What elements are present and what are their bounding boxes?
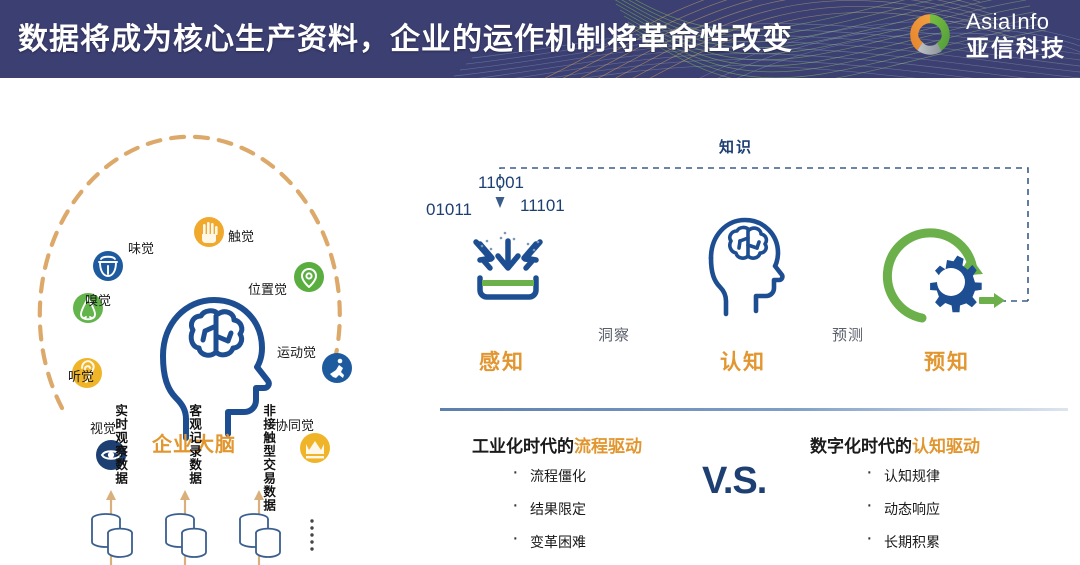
stage-label-foresight: 预知 (924, 346, 970, 376)
sense-label-smell: 嗅觉 (85, 290, 111, 309)
comparison-right-heading-highlight: 认知驱动 (912, 437, 980, 456)
ellipsis-dots (310, 519, 313, 550)
comparison-left-list: 流程僵化 结果限定 变革困难 (508, 466, 586, 565)
knowledge-label: 知识 (719, 136, 753, 157)
gear-out-arrow (979, 293, 1005, 308)
cognition-flow-diagram: 知识 11001 01011 11101 感知 认知 预知 洞察 预测 工业化时… (430, 78, 1080, 565)
stage-label-cognition: 认知 (720, 346, 766, 376)
left-panel-graphics (0, 78, 430, 565)
source-arrowheads (106, 490, 264, 500)
comparison-block: 工业化时代的流程驱动 流程僵化 结果限定 变革困难 V.S. 数字化时代的认知驱… (430, 408, 1080, 565)
gear-cycle-icon (887, 233, 1005, 318)
transition-label-insight: 洞察 (598, 324, 630, 345)
slide-root: 数据将成为核心生产资料，企业的运作机制将革命性改变 (0, 0, 1080, 565)
versus-label: V.S. (702, 460, 766, 503)
slide-header: 数据将成为核心生产资料，企业的运作机制将革命性改变 (0, 0, 1080, 78)
slide-body: 触觉 味觉 嗅觉 听觉 视觉 位置觉 运动觉 协同觉 企业大脑 实时观察数据 客… (0, 78, 1080, 565)
cognition-brain-squiggle-icon (730, 227, 767, 258)
sense-label-touch: 触觉 (228, 226, 254, 245)
data-funnel-icon (476, 232, 540, 297)
database-icon-group (92, 514, 280, 557)
sense-label-location: 位置觉 (248, 279, 287, 298)
sense-label-taste: 味觉 (128, 238, 154, 257)
sense-label-collaboration: 协同觉 (275, 415, 314, 434)
comparison-right-heading-prefix: 数字化时代的 (810, 437, 912, 456)
list-item: 结果限定 (508, 499, 586, 519)
sense-label-motion: 运动觉 (277, 342, 316, 361)
comparison-divider (440, 408, 1068, 411)
logo-text-en: AsiaInfo (966, 11, 1066, 33)
database-icon (92, 514, 132, 557)
sense-label-hearing: 听觉 (68, 366, 94, 385)
bits-label-1: 11001 (478, 173, 524, 193)
location-pin-icon (294, 262, 324, 292)
bits-label-3: 11101 (520, 196, 565, 216)
data-source-label-2: 客观记录数据 (187, 404, 200, 485)
data-source-label-1: 实时观察数据 (113, 404, 126, 485)
database-icon (166, 514, 206, 557)
gear-hole (937, 268, 965, 296)
logo-text-cn: 亚信科技 (966, 37, 1066, 60)
database-icon (240, 514, 280, 557)
list-item: 变革困难 (508, 532, 586, 552)
brain-squiggle-icon (191, 311, 242, 355)
comparison-left-heading-prefix: 工业化时代的 (472, 437, 574, 456)
tongue-icon (93, 251, 123, 281)
list-item: 长期积累 (862, 532, 940, 552)
running-person-icon (322, 353, 352, 383)
asiainfo-logo-icon (903, 8, 957, 62)
enterprise-brain-diagram: 触觉 味觉 嗅觉 听觉 视觉 位置觉 运动觉 协同觉 企业大脑 实时观察数据 客… (0, 78, 430, 565)
page-title: 数据将成为核心生产资料，企业的运作机制将革命性改变 (18, 14, 793, 58)
knowledge-loop-arrowhead (496, 197, 505, 208)
comparison-right-heading: 数字化时代的认知驱动 (810, 432, 980, 457)
hand-icon (194, 217, 224, 247)
transition-label-prediction: 预测 (832, 324, 864, 345)
comparison-right-list: 认知规律 动态响应 长期积累 (862, 466, 940, 565)
list-item: 动态响应 (862, 499, 940, 519)
list-item: 流程僵化 (508, 466, 586, 486)
comparison-left-heading: 工业化时代的流程驱动 (472, 432, 642, 457)
bits-label-2: 01011 (426, 200, 472, 220)
brand-logo: AsiaInfo 亚信科技 (903, 8, 1066, 62)
comparison-left-heading-highlight: 流程驱动 (574, 437, 642, 456)
stage-label-perception: 感知 (479, 346, 525, 376)
crown-icon (300, 433, 330, 463)
data-source-label-3: 非接触型交易数据 (261, 404, 274, 512)
list-item: 认知规律 (862, 466, 940, 486)
funnel-green-bar (482, 280, 534, 286)
